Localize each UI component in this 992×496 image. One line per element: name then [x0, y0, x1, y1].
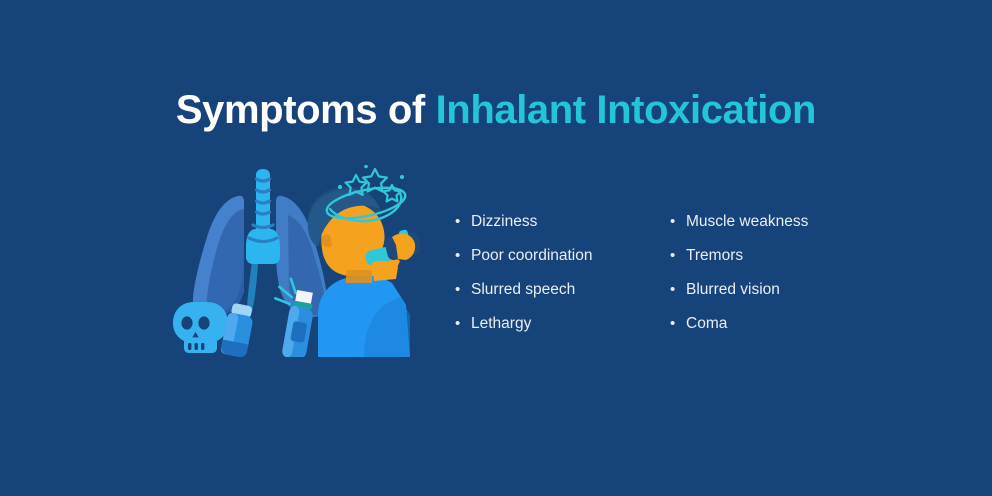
bullet-icon: •	[670, 314, 686, 333]
list-item: • Muscle weakness	[670, 212, 885, 246]
bullet-icon: •	[455, 314, 471, 333]
list-item-label: Poor coordination	[471, 246, 593, 265]
list-item-label: Blurred vision	[686, 280, 780, 299]
page-title: Symptoms of Inhalant Intoxication	[0, 88, 992, 132]
list-item: • Blurred vision	[670, 280, 885, 314]
list-item: • Poor coordination	[455, 246, 670, 280]
list-item-label: Tremors	[686, 246, 743, 265]
list-item: • Coma	[670, 314, 885, 348]
list-item-label: Coma	[686, 314, 727, 333]
page-title-accent: Inhalant Intoxication	[436, 88, 817, 132]
person-inhaling-icon	[308, 187, 422, 357]
list-item-label: Slurred speech	[471, 280, 575, 299]
list-item: • Lethargy	[455, 314, 670, 348]
bullet-icon: •	[455, 280, 471, 299]
skull-icon	[173, 302, 228, 353]
list-item-label: Lethargy	[471, 314, 531, 333]
symptoms-lists: • Dizziness • Poor coordination • Slurre…	[455, 212, 915, 348]
trachea-icon	[246, 169, 280, 313]
bullet-icon: •	[455, 246, 471, 265]
symptoms-column-left: • Dizziness • Poor coordination • Slurre…	[455, 212, 670, 348]
symptoms-column-right: • Muscle weakness • Tremors • Blurred vi…	[670, 212, 885, 348]
bullet-icon: •	[455, 212, 471, 231]
list-item: • Slurred speech	[455, 280, 670, 314]
list-item: • Tremors	[670, 246, 885, 280]
page-title-main: Symptoms of	[176, 88, 436, 132]
inhalant-intoxication-illustration	[160, 165, 422, 357]
bullet-icon: •	[670, 246, 686, 265]
bullet-icon: •	[670, 280, 686, 299]
bullet-icon: •	[670, 212, 686, 231]
list-item-label: Muscle weakness	[686, 212, 808, 231]
list-item-label: Dizziness	[471, 212, 537, 231]
list-item: • Dizziness	[455, 212, 670, 246]
slide-root: Symptoms of Inhalant Intoxication	[0, 0, 992, 496]
